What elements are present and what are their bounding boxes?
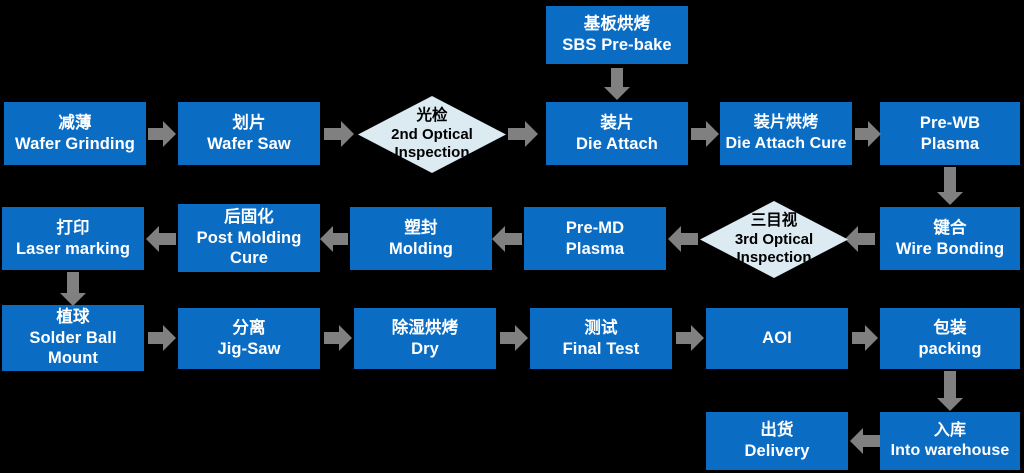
node-3rd-optical-inspection[interactable]: 三目视 3rd Optical Inspection: [700, 201, 848, 278]
node-label-en-line2: Plasma: [566, 239, 624, 260]
node-die-attach[interactable]: 装片 Die Attach: [546, 102, 688, 165]
node-aoi[interactable]: AOI: [706, 308, 848, 369]
node-label-cn: 三目视: [751, 212, 798, 229]
node-label-en: SBS Pre-bake: [562, 35, 671, 56]
node-label-en-line2: Plasma: [921, 134, 979, 155]
arrow-final-test-to-aoi: [676, 325, 704, 351]
node-label-cn: 装片: [600, 113, 633, 134]
node-label-cn: 出货: [760, 420, 793, 441]
node-label-en: Jig-Saw: [217, 339, 280, 360]
arrow-molding-to-post-molding-cure: [320, 226, 348, 252]
node-label-en: Into warehouse: [891, 441, 1010, 461]
node-label-en: AOI: [762, 328, 792, 349]
node-label-cn: 装片烘烤: [754, 113, 818, 133]
node-sbs-prebake[interactable]: 基板烘烤 SBS Pre-bake: [546, 6, 688, 64]
arrow-packing-to-into-warehouse: [937, 371, 963, 411]
node-label-en: packing: [918, 339, 981, 360]
arrow-die-attach-to-die-attach-cure: [691, 121, 719, 147]
node-label-cn: 减薄: [58, 113, 91, 134]
process-flow-diagram: 基板烘烤 SBS Pre-bake 减薄 Wafer Grinding 划片 W…: [0, 0, 1024, 473]
node-label-cn: 塑封: [404, 218, 437, 239]
node-label-cn: 植球: [56, 307, 89, 328]
node-laser-marking[interactable]: 打印 Laser marking: [2, 207, 144, 270]
node-pre-wb-plasma[interactable]: Pre-WB Plasma: [880, 102, 1020, 165]
arrow-wafer-grinding-to-wafer-saw: [148, 121, 176, 147]
node-label-en: Post Molding Cure: [182, 228, 316, 270]
node-label-cn: 打印: [56, 218, 89, 239]
node-label-cn: 基板烘烤: [584, 14, 650, 35]
node-molding[interactable]: 塑封 Molding: [350, 207, 492, 270]
arrow-wire-bonding-to-optical-3rd: [845, 226, 875, 252]
node-label-en: Molding: [389, 239, 453, 260]
node-2nd-optical-inspection[interactable]: 光检 2nd Optical Inspection: [358, 96, 506, 173]
node-label-en-line1: Pre-MD: [566, 218, 624, 239]
node-label-cn: 分离: [232, 318, 265, 339]
arrow-solder-ball-mount-to-jig-saw: [148, 325, 176, 351]
node-label-en: 3rd Optical Inspection: [735, 231, 813, 266]
node-wire-bonding[interactable]: 键合 Wire Bonding: [880, 207, 1020, 270]
arrow-into-warehouse-to-delivery: [850, 428, 880, 454]
arrow-aoi-to-packing: [852, 325, 878, 351]
node-wafer-saw[interactable]: 划片 Wafer Saw: [178, 102, 320, 165]
node-jig-saw[interactable]: 分离 Jig-Saw: [178, 308, 320, 369]
node-label-en: Wafer Saw: [207, 134, 291, 155]
node-die-attach-cure[interactable]: 装片烘烤 Die Attach Cure: [720, 102, 852, 165]
node-dry[interactable]: 除湿烘烤 Dry: [354, 308, 496, 369]
arrow-post-molding-cure-to-laser-marking: [146, 226, 176, 252]
node-label-cn: 包装: [933, 318, 966, 339]
node-label-en-line1: Pre-WB: [920, 113, 980, 134]
node-solder-ball-mount[interactable]: 植球 Solder Ball Mount: [2, 305, 144, 371]
node-wafer-grinding[interactable]: 减薄 Wafer Grinding: [4, 102, 146, 165]
node-label-en: Delivery: [744, 441, 809, 462]
arrow-jig-saw-to-dry: [324, 325, 352, 351]
arrow-wafer-saw-to-optical-2nd: [324, 121, 354, 147]
arrow-optical-3rd-to-pre-md-plasma: [668, 226, 698, 252]
node-label-en: Wire Bonding: [896, 239, 1004, 260]
node-label-en: 2nd Optical Inspection: [391, 126, 473, 161]
node-label-en: Die Attach Cure: [726, 134, 847, 154]
arrow-laser-marking-to-solder-ball-mount: [60, 272, 86, 306]
node-label-en: Solder Ball Mount: [6, 328, 140, 370]
node-label-cn: 后固化: [224, 207, 274, 228]
node-label-cn: 光检: [416, 107, 447, 124]
node-label-en: Laser marking: [16, 239, 130, 260]
node-label-en: Die Attach: [576, 134, 658, 155]
node-label-cn: 除湿烘烤: [392, 318, 458, 339]
arrow-dry-to-final-test: [500, 325, 528, 351]
node-label-en: Final Test: [563, 339, 640, 360]
arrow-sbs-prebake-to-die-attach: [604, 68, 630, 100]
node-final-test[interactable]: 测试 Final Test: [530, 308, 672, 369]
node-label-cn: 键合: [933, 218, 966, 239]
arrow-die-attach-cure-to-pre-wb-plasma: [855, 121, 881, 147]
node-label-en: Wafer Grinding: [15, 134, 135, 155]
node-label-cn: 测试: [584, 318, 617, 339]
arrow-pre-wb-plasma-to-wire-bonding: [937, 167, 963, 205]
node-packing[interactable]: 包装 packing: [880, 308, 1020, 369]
node-label-en: Dry: [411, 339, 439, 360]
node-into-warehouse[interactable]: 入库 Into warehouse: [880, 412, 1020, 470]
node-pre-md-plasma[interactable]: Pre-MD Plasma: [524, 207, 666, 270]
node-post-molding-cure[interactable]: 后固化 Post Molding Cure: [178, 204, 320, 272]
node-delivery[interactable]: 出货 Delivery: [706, 412, 848, 470]
arrow-optical-2nd-to-die-attach: [508, 121, 538, 147]
node-label-cn: 入库: [934, 421, 966, 441]
arrow-pre-md-plasma-to-molding: [492, 226, 522, 252]
node-label-cn: 划片: [232, 113, 265, 134]
